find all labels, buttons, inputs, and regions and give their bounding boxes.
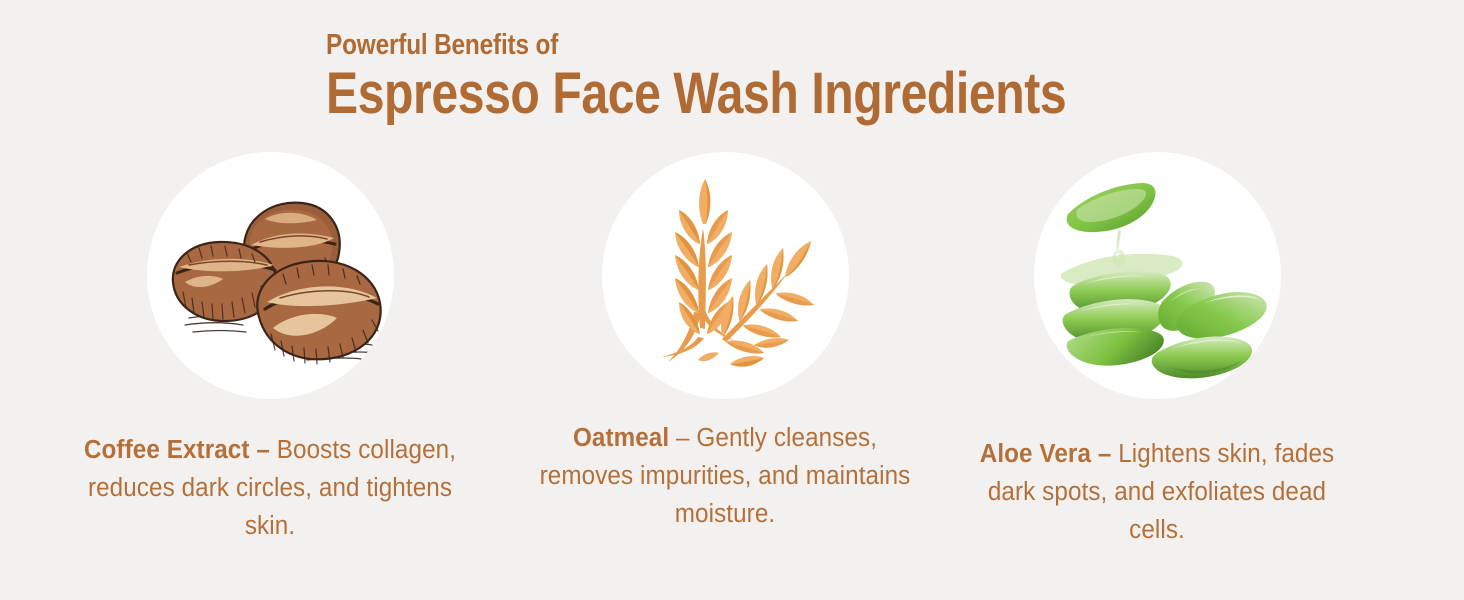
coffee-circle-backdrop	[147, 152, 394, 399]
heading-block: Powerful Benefits of Espresso Face Wash …	[326, 30, 1326, 125]
caption-oatmeal: Oatmeal – Gently cleanses, removes impur…	[535, 419, 915, 533]
oatmeal-circle-backdrop	[602, 152, 849, 399]
caption-aloe: Aloe Vera – Lightens skin, fades dark sp…	[967, 435, 1347, 549]
coffee-beans-icon	[147, 152, 394, 399]
ingredient-column-coffee: Coffee Extract – Boosts collagen, reduce…	[60, 152, 480, 545]
caption-coffee: Coffee Extract – Boosts collagen, reduce…	[80, 431, 460, 545]
caption-coffee-title: Coffee Extract –	[84, 436, 270, 464]
aloe-circle-backdrop	[1034, 152, 1281, 399]
page-title: Espresso Face Wash Ingredients	[326, 63, 1156, 125]
ingredient-column-aloe: Aloe Vera – Lightens skin, fades dark sp…	[947, 152, 1367, 549]
infographic-banner: Powerful Benefits of Espresso Face Wash …	[0, 0, 1464, 600]
aloe-vera-slices-icon	[1034, 152, 1281, 399]
caption-oatmeal-title: Oatmeal	[573, 424, 669, 452]
caption-aloe-title: Aloe Vera –	[980, 440, 1112, 468]
wheat-stalks-icon	[602, 152, 849, 399]
heading-eyebrow: Powerful Benefits of	[326, 30, 1166, 61]
ingredient-column-oatmeal: Oatmeal – Gently cleanses, removes impur…	[515, 152, 935, 533]
